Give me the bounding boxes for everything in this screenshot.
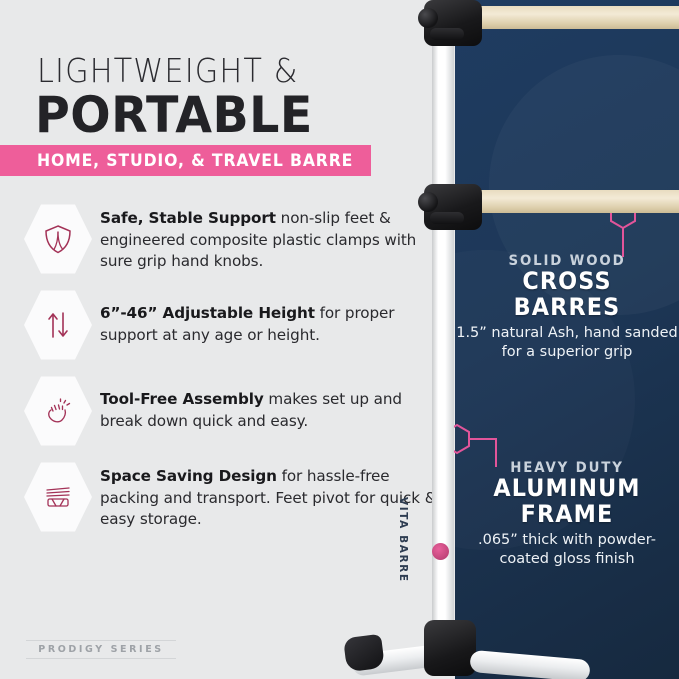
feature-text: Tool-Free Assembly makes set up and brea… xyxy=(94,375,455,432)
hexagon-marker-icon xyxy=(445,425,469,453)
callout-description: 1.5” natural Ash, hand sanded for a supe… xyxy=(455,321,679,362)
headline-line-2: PORTABLE xyxy=(35,86,313,144)
feature-icon-badge xyxy=(24,461,94,533)
feature-text: Safe, Stable Support non-slip feet & eng… xyxy=(94,203,455,273)
feature-icon-badge xyxy=(24,375,94,447)
product-photo-panel: SOLID WOOD CROSS BARRES 1.5” natural Ash… xyxy=(455,0,679,679)
subtitle-banner-text: HOME, STUDIO, & TRAVEL BARRE xyxy=(37,151,353,170)
callout-aluminum-frame: HEAVY DUTY ALUMINUM FRAME .065” thick wi… xyxy=(455,460,679,569)
callout-pointer-aluminum-frame xyxy=(440,415,560,475)
hexagon-marker-icon xyxy=(611,200,635,228)
feature-icon-badge xyxy=(24,289,94,361)
callout-title-line-1: ALUMINUM xyxy=(463,476,671,502)
callout-title-line-2: FRAME xyxy=(463,502,671,528)
feature-item-tool-free-assembly: Tool-Free Assembly makes set up and brea… xyxy=(0,375,455,447)
feature-item-adjustable-height: 6”-46” Adjustable Height for proper supp… xyxy=(0,289,455,361)
subtitle-banner: HOME, STUDIO, & TRAVEL BARRE xyxy=(0,145,371,176)
folded-stack-icon xyxy=(42,483,74,511)
callout-pointer-cross-barres xyxy=(455,195,679,265)
feature-list: Safe, Stable Support non-slip feet & eng… xyxy=(0,203,455,547)
callout-description: .065” thick with powder-coated gloss fin… xyxy=(455,528,679,569)
callout-title-line-1: CROSS xyxy=(463,269,671,295)
feature-text: Space Saving Design for hassle-free pack… xyxy=(94,461,455,531)
feature-title: 6”-46” Adjustable Height xyxy=(100,304,315,322)
pointer-line xyxy=(469,439,496,467)
feature-title: Space Saving Design xyxy=(100,467,277,485)
headline-line-1: LIGHTWEIGHT & xyxy=(37,51,299,90)
callout-cross-barres: SOLID WOOD CROSS BARRES 1.5” natural Ash… xyxy=(455,253,679,362)
up-down-arrows-icon xyxy=(44,310,72,340)
waving-hand-icon xyxy=(42,395,74,427)
shield-icon xyxy=(43,223,73,255)
feature-item-space-saving-design: Space Saving Design for hassle-free pack… xyxy=(0,461,455,533)
feature-title: Tool-Free Assembly xyxy=(100,390,264,408)
series-badge: PRODIGY SERIES xyxy=(26,640,176,659)
series-badge-rule-bottom xyxy=(26,658,176,659)
infographic-page: LIGHTWEIGHT & PORTABLE HOME, STUDIO, & T… xyxy=(0,0,679,679)
feature-text: 6”-46” Adjustable Height for proper supp… xyxy=(94,289,455,346)
left-content-column: LIGHTWEIGHT & PORTABLE HOME, STUDIO, & T… xyxy=(0,0,460,679)
callout-title-line-2: BARRES xyxy=(463,295,671,321)
feature-icon-badge xyxy=(24,203,94,275)
series-badge-label: PRODIGY SERIES xyxy=(26,641,176,658)
feature-item-safe-stable-support: Safe, Stable Support non-slip feet & eng… xyxy=(0,203,455,275)
feature-title: Safe, Stable Support xyxy=(100,209,276,227)
